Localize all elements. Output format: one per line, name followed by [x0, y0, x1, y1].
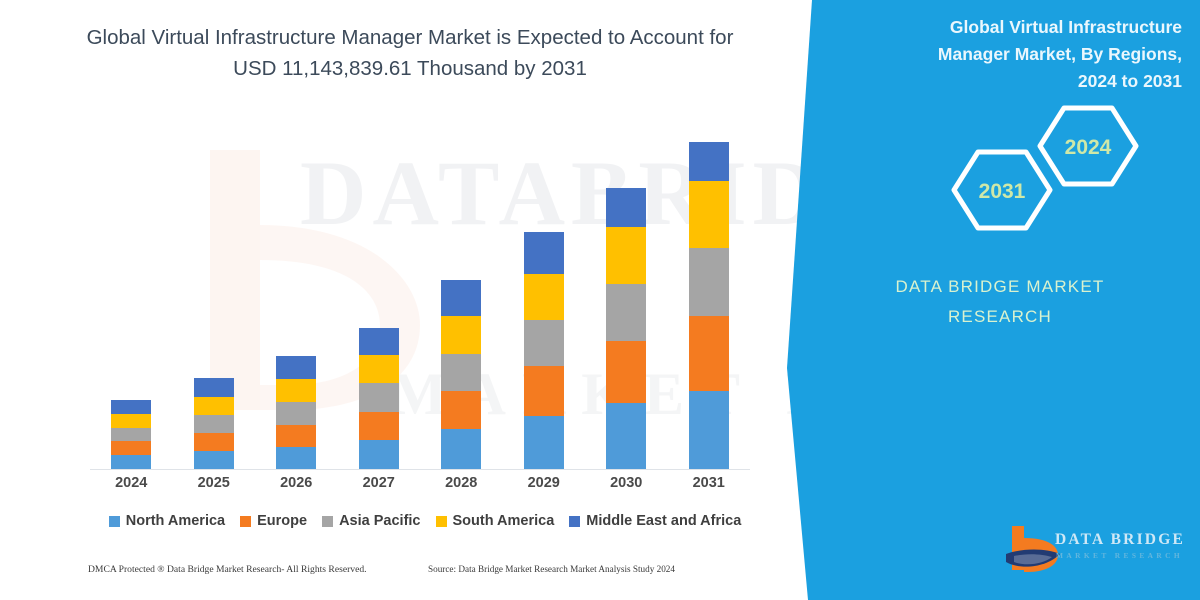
bar-segment	[194, 415, 234, 433]
bar-segment	[689, 142, 729, 181]
bar-slot	[338, 130, 421, 469]
legend-item-middle-east-and-africa[interactable]: Middle East and Africa	[569, 513, 741, 529]
bar-segment	[111, 400, 151, 414]
footer-source-text: Source: Data Bridge Market Research Mark…	[428, 564, 675, 574]
bar-slot	[668, 130, 751, 469]
company-logo-name: DATA BRIDGE	[1055, 531, 1185, 549]
legend-item-label: Asia Pacific	[339, 513, 420, 529]
bar-segment	[194, 378, 234, 397]
bar-segment	[359, 383, 399, 412]
bar-segment	[111, 441, 151, 455]
brand-name-line2: RESEARCH	[948, 307, 1052, 326]
bar-segment	[689, 248, 729, 317]
legend-swatch-icon	[109, 516, 120, 527]
legend-swatch-icon	[240, 516, 251, 527]
bar-segment	[524, 320, 564, 367]
bar-segment	[606, 341, 646, 404]
bar-segment	[689, 316, 729, 390]
company-logo	[990, 520, 1190, 580]
bar-segment	[276, 356, 316, 379]
legend-swatch-icon	[322, 516, 333, 527]
bar-segment	[441, 316, 481, 353]
legend-swatch-icon	[436, 516, 447, 527]
stacked-bar-chart	[90, 130, 750, 470]
year-hexagons: 2024 2031	[922, 104, 1142, 234]
x-axis-tick-2031: 2031	[668, 475, 751, 491]
bar-segment	[359, 440, 399, 469]
bar-segment	[194, 397, 234, 415]
stacked-bar-2025[interactable]	[194, 378, 234, 469]
bar-segment	[441, 354, 481, 391]
bar-segment	[606, 284, 646, 341]
bar-segment	[276, 447, 316, 469]
x-axis-tick-2026: 2026	[255, 475, 338, 491]
legend-item-label: Europe	[257, 513, 307, 529]
page-title-line1: Global Virtual Infrastructure Manager Ma…	[87, 26, 734, 49]
x-axis-tick-2024: 2024	[90, 475, 173, 491]
panel-title-line2: Manager Market, By Regions,	[938, 44, 1182, 64]
bar-segment	[441, 429, 481, 469]
stacked-bar-2026[interactable]	[276, 356, 316, 469]
bar-segment	[194, 451, 234, 469]
bar-slot	[503, 130, 586, 469]
stacked-bar-2027[interactable]	[359, 328, 399, 469]
bar-segment	[689, 181, 729, 248]
bar-segment	[194, 433, 234, 451]
stacked-bar-2024[interactable]	[111, 400, 151, 469]
company-logo-subtitle: MARKET RESEARCH	[1056, 551, 1183, 560]
x-axis-tick-2028: 2028	[420, 475, 503, 491]
bar-segment	[359, 355, 399, 384]
bar-segment	[524, 232, 564, 274]
svg-text:2031: 2031	[979, 180, 1026, 203]
legend-swatch-icon	[569, 516, 580, 527]
stacked-bar-2029[interactable]	[524, 232, 564, 469]
panel-title: Global Virtual Infrastructure Manager Ma…	[862, 14, 1182, 95]
page-title-line2: USD 11,143,839.61 Thousand by 2031	[233, 57, 587, 80]
chart-bars	[90, 130, 750, 469]
chart-baseline	[90, 469, 750, 470]
legend-item-label: Middle East and Africa	[586, 513, 741, 529]
panel-title-line1: Global Virtual Infrastructure	[950, 17, 1182, 37]
bar-segment	[111, 428, 151, 442]
bar-segment	[524, 366, 564, 416]
bar-slot	[255, 130, 338, 469]
brand-name-line1: DATA BRIDGE MARKET	[896, 277, 1105, 296]
footer-dmca-text: DMCA Protected ® Data Bridge Market Rese…	[88, 564, 367, 575]
legend-item-label: North America	[126, 513, 225, 529]
chart-legend: North AmericaEuropeAsia PacificSouth Ame…	[90, 513, 760, 529]
bar-segment	[689, 391, 729, 469]
bar-segment	[276, 425, 316, 447]
page-title: Global Virtual Infrastructure Manager Ma…	[60, 22, 760, 84]
brand-name: DATA BRIDGE MARKET RESEARCH	[800, 272, 1200, 332]
chart-x-axis-labels: 20242025202620272028202920302031	[90, 475, 750, 491]
x-axis-tick-2030: 2030	[585, 475, 668, 491]
bar-segment	[441, 280, 481, 316]
legend-item-label: South America	[453, 513, 555, 529]
bar-segment	[606, 227, 646, 283]
x-axis-tick-2027: 2027	[338, 475, 421, 491]
bar-segment	[359, 412, 399, 441]
legend-item-north-america[interactable]: North America	[109, 513, 225, 529]
bar-segment	[359, 328, 399, 354]
chart-pane: DATABRIDGE MARKET RESEARCH Global Virtua…	[0, 0, 820, 600]
bar-segment	[524, 416, 564, 469]
bar-segment	[606, 403, 646, 469]
legend-item-europe[interactable]: Europe	[240, 513, 307, 529]
bar-segment	[524, 274, 564, 320]
stacked-bar-2031[interactable]	[689, 142, 729, 469]
bar-slot	[90, 130, 173, 469]
infographic-canvas: DATABRIDGE MARKET RESEARCH Global Virtua…	[0, 0, 1200, 600]
legend-item-asia-pacific[interactable]: Asia Pacific	[322, 513, 420, 529]
bar-segment	[276, 379, 316, 402]
bar-segment	[606, 188, 646, 227]
bar-slot	[420, 130, 503, 469]
x-axis-tick-2025: 2025	[173, 475, 256, 491]
footer: DMCA Protected ® Data Bridge Market Rese…	[0, 560, 820, 600]
bar-segment	[111, 414, 151, 428]
brand-panel: Global Virtual Infrastructure Manager Ma…	[800, 0, 1200, 600]
svg-text:2024: 2024	[1065, 136, 1112, 159]
bar-segment	[441, 391, 481, 429]
bar-slot	[173, 130, 256, 469]
bar-slot	[585, 130, 668, 469]
legend-item-south-america[interactable]: South America	[436, 513, 555, 529]
bar-segment	[276, 402, 316, 424]
bar-segment	[111, 455, 151, 469]
stacked-bar-2028[interactable]	[441, 280, 481, 469]
x-axis-tick-2029: 2029	[503, 475, 586, 491]
panel-title-line3: 2024 to 2031	[1078, 71, 1182, 91]
stacked-bar-2030[interactable]	[606, 188, 646, 469]
